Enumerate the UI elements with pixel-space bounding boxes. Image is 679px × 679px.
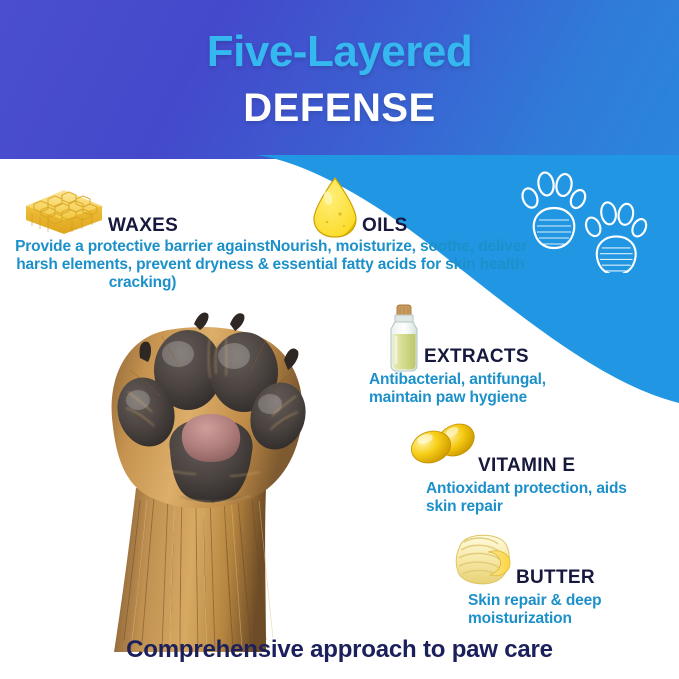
ingredient-description: Nourish, moisturize, soothe, deliver ess…	[266, 238, 531, 274]
oil-drop-icon	[306, 176, 364, 239]
ingredient-title: OILS	[362, 216, 408, 236]
paw-print-icon	[583, 201, 649, 273]
ingredient-description: Skin repair & deep moisturization	[468, 592, 663, 628]
infographic-canvas: Five-Layered DEFENSE	[0, 0, 679, 679]
ingredient-title: WAXES	[108, 216, 178, 236]
paw-print-icon	[520, 171, 588, 248]
ingredient-description: Antioxidant protection, aids skin repair	[426, 480, 656, 516]
ingredient-title: BUTTER	[516, 568, 595, 588]
softgel-capsule-icon	[408, 420, 486, 475]
ingredient-description: Antibacterial, antifungal, maintain paw …	[369, 371, 599, 407]
butter-curl-icon	[450, 530, 526, 590]
header-banner: Five-Layered DEFENSE	[0, 0, 679, 159]
ingredient-title: VITAMIN E	[478, 456, 575, 476]
dog-paw-photo	[70, 300, 350, 652]
bottle-icon	[380, 303, 428, 373]
footer-caption: Comprehensive approach to paw care	[0, 638, 679, 662]
page-title: Five-Layered	[0, 30, 679, 74]
page-subtitle: DEFENSE	[0, 88, 679, 128]
ingredient-description: Provide a protective barrier against har…	[10, 238, 275, 292]
honeycomb-icon	[18, 176, 110, 238]
ingredient-title: EXTRACTS	[424, 347, 529, 367]
paw-prints-decoration	[510, 168, 675, 273]
